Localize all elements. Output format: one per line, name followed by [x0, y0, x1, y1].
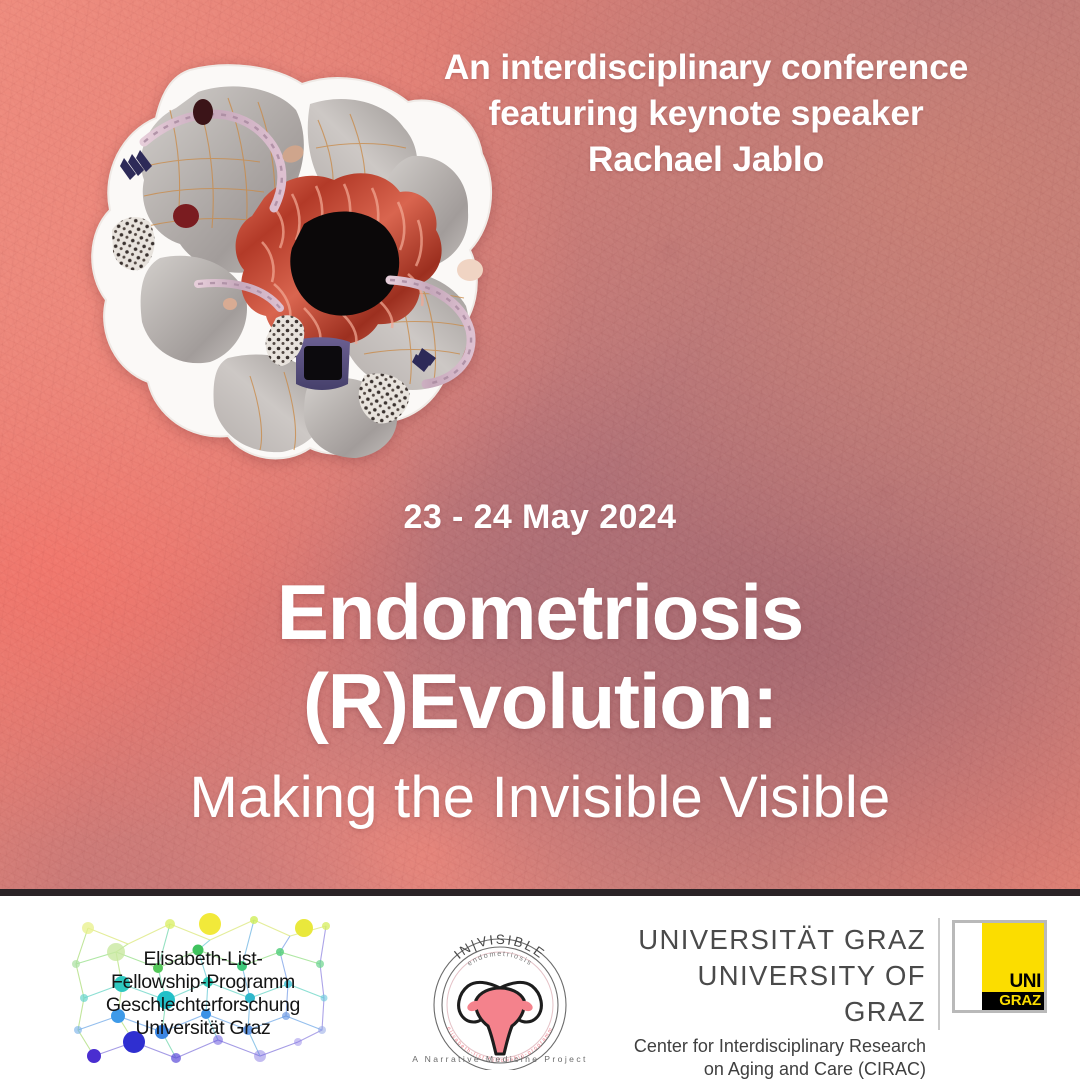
elisabeth-line-1: Elisabeth-List- [58, 948, 348, 971]
elisabeth-line-4: Universität Graz [58, 1017, 348, 1040]
cirac-line-1: Center for Interdisciplinary Research [608, 1035, 926, 1058]
university-of-graz-logo: UNIVERSITÄT GRAZ UNIVERSITY OF GRAZ Cent… [608, 914, 1048, 1064]
unigraz-line-german: UNIVERSITÄT GRAZ [608, 922, 926, 958]
footer-divider [0, 889, 1080, 896]
invisible-endometriosis-logo: IN|VISIBLE endometriosis elisabeth-list-… [400, 910, 600, 1070]
unigraz-vertical-rule [938, 918, 940, 1030]
poster-title: Endometriosis (R)Evolution: [0, 568, 1080, 746]
unigraz-mark-graz-text: GRAZ [982, 993, 1041, 1008]
elisabeth-line-3: Geschlechterforschung [58, 994, 348, 1017]
unigraz-mark-yellow-field: UNI GRAZ [982, 923, 1044, 1010]
conference-poster: An interdisciplinary conference featurin… [0, 0, 1080, 1080]
title-line-2: (R)Evolution: [0, 657, 1080, 746]
unigraz-mark-graz-bar: GRAZ [982, 992, 1044, 1010]
poster-footer-logos: Elisabeth-List- Fellowship-Programm Gesc… [0, 896, 1080, 1080]
header-line-2: featuring keynote speaker [350, 90, 1062, 136]
header-line-3-keynote-speaker: Rachael Jablo [350, 136, 1062, 182]
unigraz-line-english: UNIVERSITY OF GRAZ [608, 958, 926, 1030]
cirac-subtitle: Center for Interdisciplinary Research on… [608, 1035, 926, 1080]
conference-date: 23 - 24 May 2024 [0, 498, 1080, 537]
unigraz-mark-icon: UNI GRAZ [952, 920, 1047, 1013]
narrative-medicine-caption: A Narrative Medicine Project [400, 1054, 600, 1064]
poster-subtitle: Making the Invisible Visible [0, 764, 1080, 831]
cirac-line-2: on Aging and Care (CIRAC) [608, 1058, 926, 1080]
title-line-1: Endometriosis [0, 568, 1080, 657]
header-line-1: An interdisciplinary conference [350, 44, 1062, 90]
unigraz-mark-uni-text: UNI [982, 973, 1044, 992]
elisabeth-list-logo: Elisabeth-List- Fellowship-Programm Gesc… [58, 906, 348, 1066]
poster-hero: An interdisciplinary conference featurin… [0, 0, 1080, 894]
conference-header-text: An interdisciplinary conference featurin… [350, 44, 1062, 182]
unigraz-mark-white-strip [955, 923, 982, 1010]
elisabeth-list-logo-text: Elisabeth-List- Fellowship-Programm Gesc… [58, 948, 348, 1040]
elisabeth-line-2: Fellowship-Programm [58, 971, 348, 994]
unigraz-text-block: UNIVERSITÄT GRAZ UNIVERSITY OF GRAZ Cent… [608, 922, 926, 1080]
